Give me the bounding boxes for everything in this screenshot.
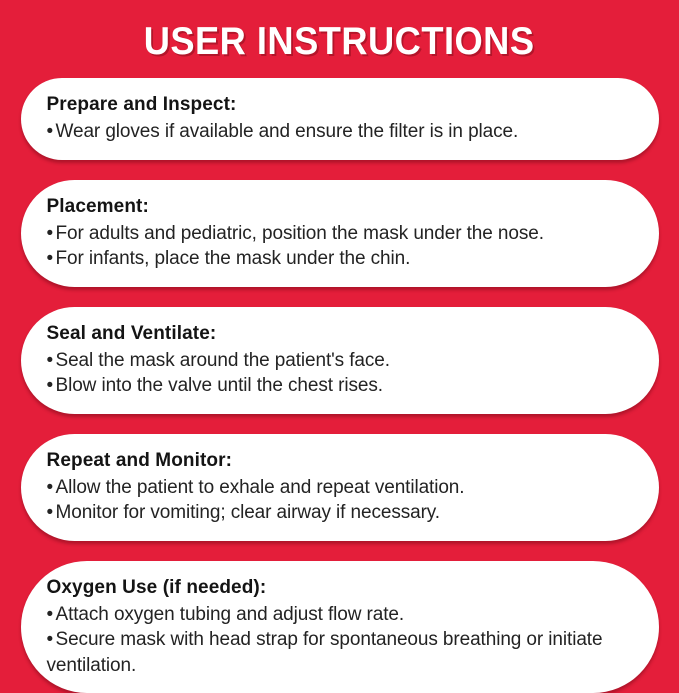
instruction-bullet-item: •Attach oxygen tubing and adjust flow ra… (47, 602, 629, 628)
bullet-point-icon: • (47, 373, 56, 399)
instruction-bullet-list: •Allow the patient to exhale and repeat … (47, 475, 629, 526)
instruction-bullet-item: •Seal the mask around the patient's face… (47, 348, 629, 374)
bullet-point-icon: • (47, 627, 56, 653)
instruction-card: Seal and Ventilate:•Seal the mask around… (21, 307, 659, 414)
instruction-card-heading: Repeat and Monitor: (47, 448, 629, 474)
instruction-card: Oxygen Use (if needed):•Attach oxygen tu… (21, 561, 659, 693)
bullet-point-icon: • (47, 602, 56, 628)
instruction-bullet-list: •Seal the mask around the patient's face… (47, 348, 629, 399)
page-title: USER INSTRUCTIONS (144, 21, 535, 63)
bullet-point-icon: • (47, 500, 56, 526)
instruction-bullet-text: Monitor for vomiting; clear airway if ne… (56, 502, 440, 523)
bullet-point-icon: • (47, 348, 56, 374)
instruction-bullet-item: •For adults and pediatric, position the … (47, 221, 629, 247)
instruction-bullet-text: For adults and pediatric, position the m… (56, 223, 544, 244)
instruction-bullet-text: For infants, place the mask under the ch… (56, 248, 411, 269)
instruction-bullet-list: •Wear gloves if available and ensure the… (47, 119, 629, 145)
instruction-bullet-text: Blow into the valve until the chest rise… (56, 375, 383, 396)
instruction-bullet-text: Attach oxygen tubing and adjust flow rat… (56, 604, 405, 625)
instruction-bullet-item: •Wear gloves if available and ensure the… (47, 119, 629, 145)
instruction-card-heading: Placement: (47, 194, 629, 220)
bullet-point-icon: • (47, 119, 56, 145)
instruction-bullet-item: •Allow the patient to exhale and repeat … (47, 475, 629, 501)
instruction-bullet-item: •Secure mask with head strap for spontan… (47, 627, 629, 678)
instruction-bullet-text: Allow the patient to exhale and repeat v… (56, 477, 465, 498)
bullet-point-icon: • (47, 475, 56, 501)
instruction-card: Repeat and Monitor:•Allow the patient to… (21, 434, 659, 541)
instruction-bullet-text: Seal the mask around the patient's face. (56, 350, 390, 371)
instruction-bullet-list: •For adults and pediatric, position the … (47, 221, 629, 272)
instruction-bullet-item: •Monitor for vomiting; clear airway if n… (47, 500, 629, 526)
instruction-card-heading: Prepare and Inspect: (47, 92, 629, 118)
instruction-bullet-list: •Attach oxygen tubing and adjust flow ra… (47, 602, 629, 679)
instructions-poster: USER INSTRUCTIONS Prepare and Inspect:•W… (0, 0, 679, 679)
instruction-bullet-item: •Blow into the valve until the chest ris… (47, 373, 629, 399)
bullet-point-icon: • (47, 221, 56, 247)
instruction-card-heading: Oxygen Use (if needed): (47, 575, 629, 601)
instruction-card: Prepare and Inspect:•Wear gloves if avai… (21, 78, 659, 160)
instruction-bullet-text: Secure mask with head strap for spontane… (47, 629, 608, 676)
instruction-card-list: Prepare and Inspect:•Wear gloves if avai… (0, 78, 679, 693)
instruction-bullet-text: Wear gloves if available and ensure the … (56, 121, 519, 142)
instruction-card: Placement:•For adults and pediatric, pos… (21, 180, 659, 287)
instruction-card-heading: Seal and Ventilate: (47, 321, 629, 347)
bullet-point-icon: • (47, 246, 56, 272)
instruction-bullet-item: •For infants, place the mask under the c… (47, 246, 629, 272)
